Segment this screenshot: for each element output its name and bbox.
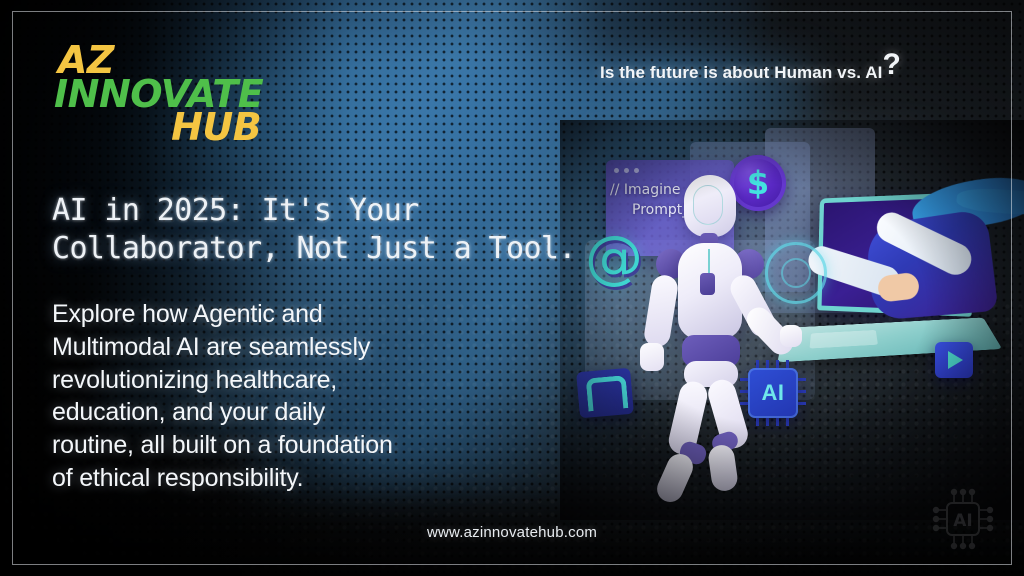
kicker-question: Is the future is about Human vs. AI? <box>600 54 901 88</box>
folder-icon <box>576 368 634 419</box>
humanoid-robot <box>632 175 802 505</box>
poster-canvas: // Imagine Prompt_ _ @ $ </> <box>0 0 1024 576</box>
ai-chip-watermark-icon: AI <box>930 486 996 552</box>
body-line-5: routine, all built on a foundation <box>52 429 552 462</box>
kicker-question-mark: ? <box>882 48 900 82</box>
robot-shin-right <box>707 443 739 492</box>
body-line-2: Multimodal AI are seamlessly <box>52 331 552 364</box>
laptop-screen <box>817 192 972 317</box>
body-line-6: of ethical responsibility. <box>52 462 552 495</box>
hero-illustration: // Imagine Prompt_ _ @ $ </> <box>560 120 1024 520</box>
kicker-text: Is the future is about Human vs. AI <box>600 63 882 82</box>
headline-line-1: AI in 2025: It's Your <box>52 192 592 230</box>
body-line-1: Explore how Agentic and <box>52 298 552 331</box>
laptop-with-person: </> <box>785 185 1015 405</box>
body-line-3: revolutionizing healthcare, <box>52 364 552 397</box>
body-line-4: education, and your daily <box>52 396 552 429</box>
window-dots-icon <box>614 168 639 173</box>
robot-shin-left <box>653 450 697 506</box>
robot-chest-panel <box>700 273 715 295</box>
page-title: AI in 2025: It's Your Collaborator, Not … <box>52 192 592 269</box>
logo-line-hub: HUB <box>54 111 263 144</box>
robot-arm-left <box>643 273 680 348</box>
headline-line-2: Collaborator, Not Just a Tool. <box>52 230 592 268</box>
body-paragraph: Explore how Agentic and Multimodal AI ar… <box>52 298 552 495</box>
svg-text:AI: AI <box>953 511 972 531</box>
website-url[interactable]: www.azinnovatehub.com <box>0 524 1024 541</box>
robot-hand-right <box>780 325 802 347</box>
robot-head <box>684 175 736 237</box>
brand-logo[interactable]: AZ INNOVATE HUB <box>54 44 263 144</box>
laptop-trackpad <box>810 330 878 349</box>
robot-hand-left <box>640 343 664 371</box>
play-button-icon <box>935 342 973 378</box>
